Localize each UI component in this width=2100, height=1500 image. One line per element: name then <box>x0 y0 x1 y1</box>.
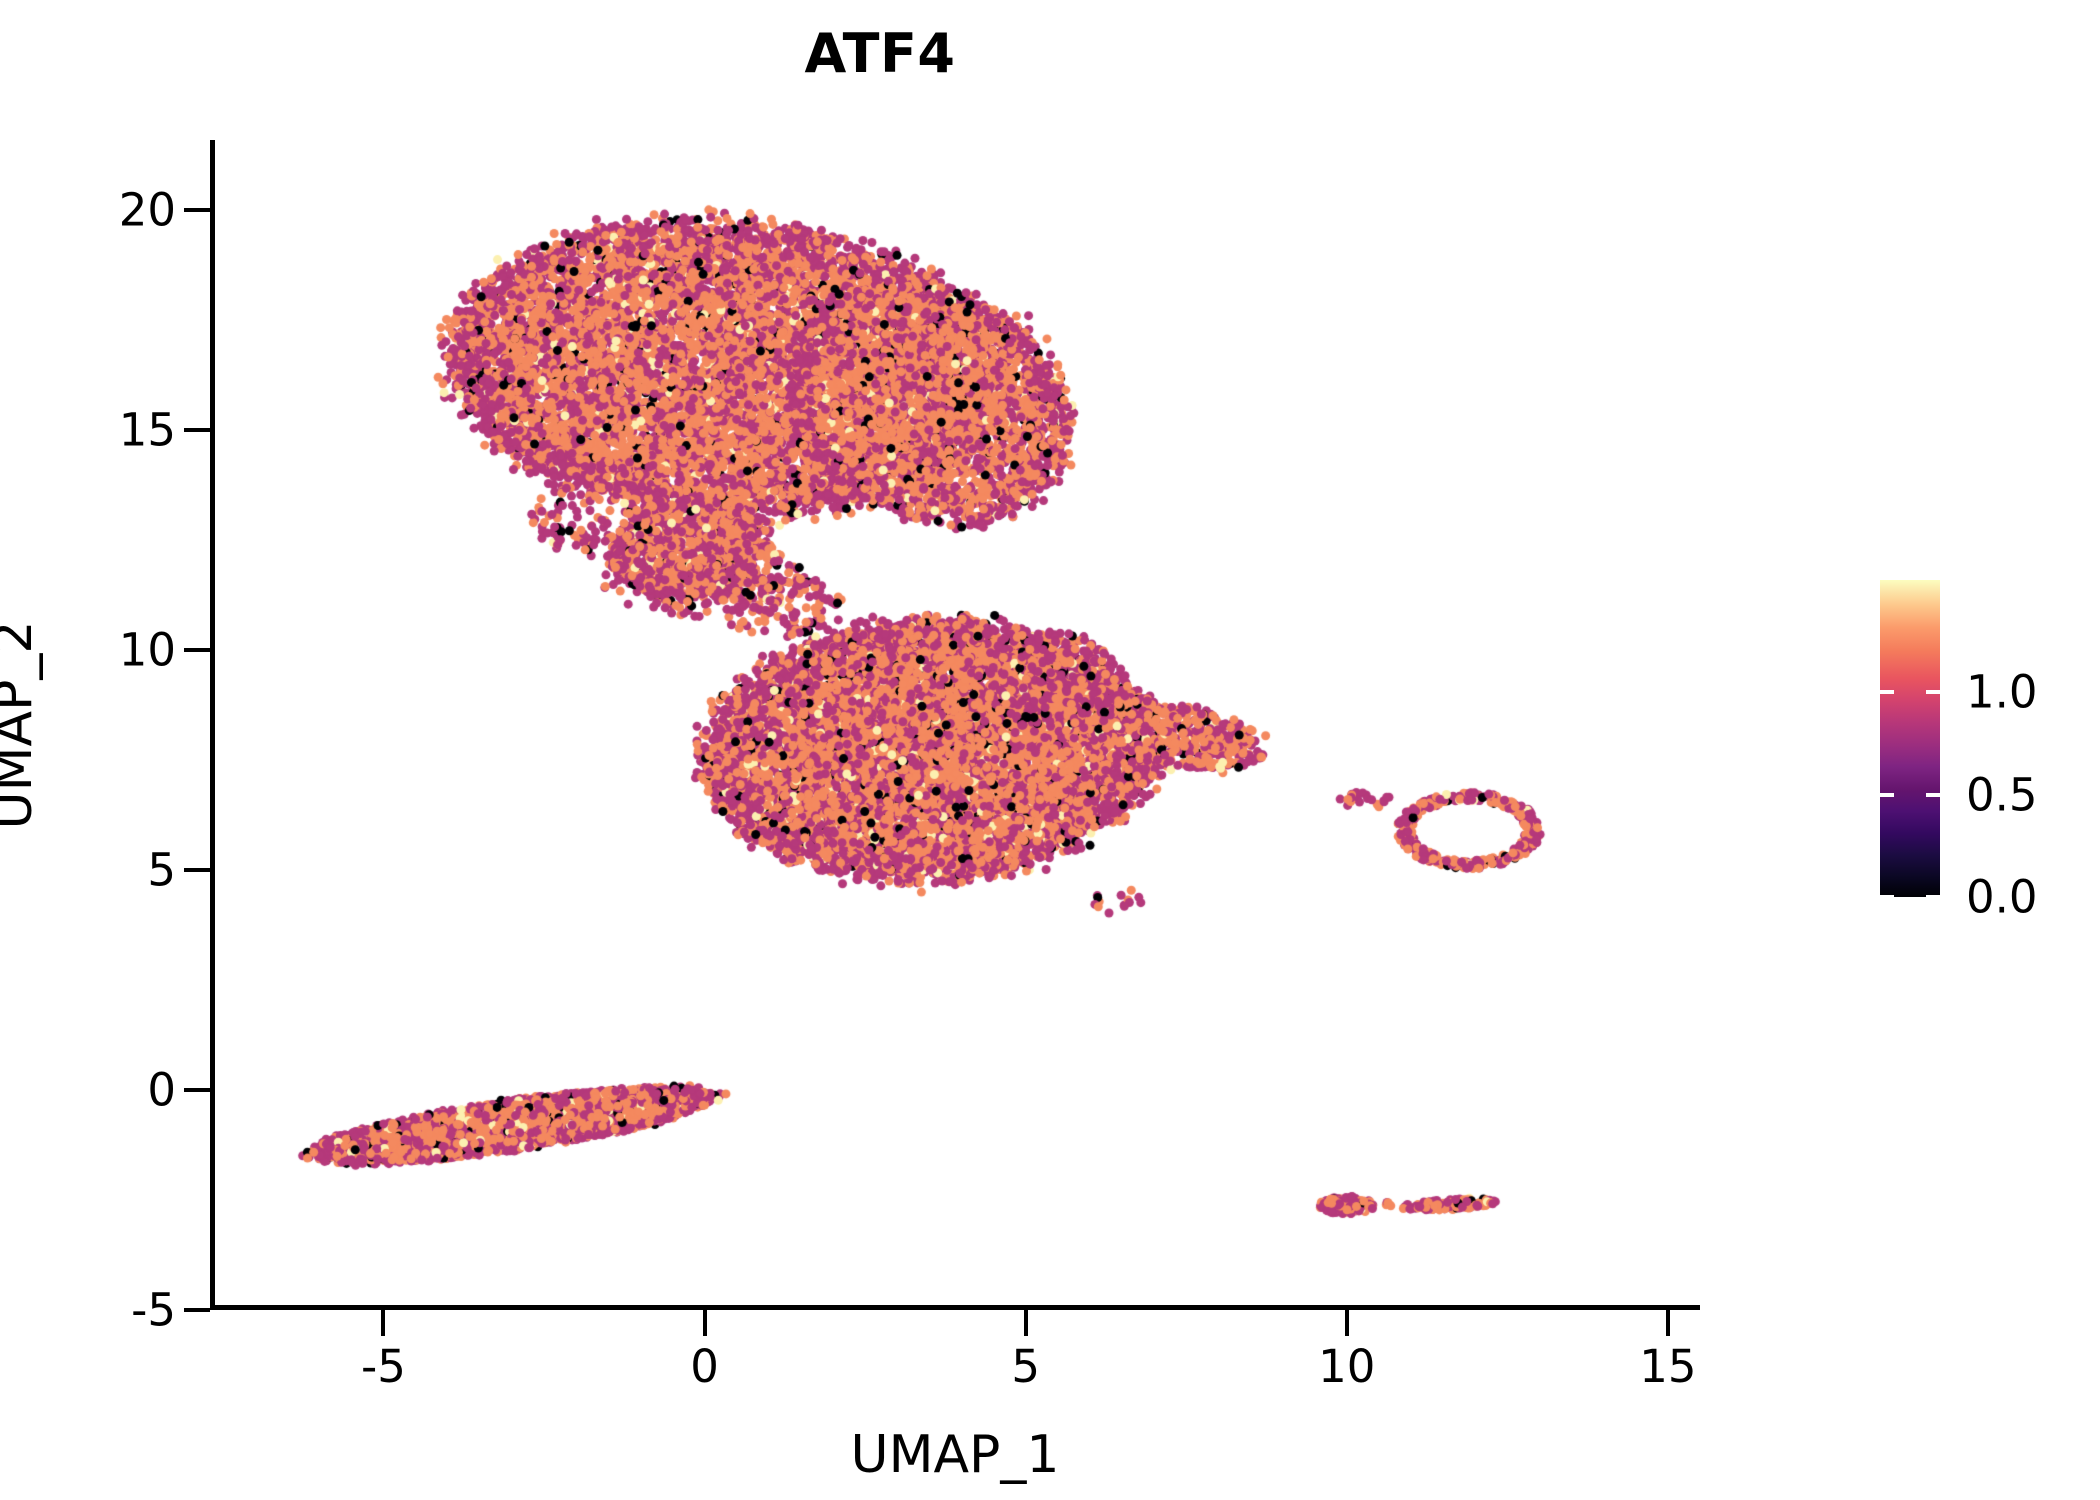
x-tick-mark <box>1666 1310 1670 1336</box>
y-tick-label: 15 <box>119 408 176 453</box>
colorbar-tick-label: 1.0 <box>1966 670 2038 715</box>
x-tick-mark <box>1345 1310 1349 1336</box>
colorbar-tick-mark <box>1926 690 1940 694</box>
y-tick-label: 20 <box>119 188 176 233</box>
x-tick-label: 15 <box>1639 1344 1696 1389</box>
y-tick-mark <box>184 1308 210 1312</box>
x-tick-label: 0 <box>690 1344 719 1389</box>
y-tick-mark <box>184 1088 210 1092</box>
x-tick-mark <box>1024 1310 1028 1336</box>
y-tick-label: 10 <box>119 628 176 673</box>
colorbar: 1.00.50.0 <box>1880 580 2080 900</box>
colorbar-tick-label: 0.5 <box>1966 772 2038 817</box>
x-tick-label: 10 <box>1318 1344 1375 1389</box>
x-tick-label: 5 <box>1011 1344 1040 1389</box>
colorbar-tick-label: 0.0 <box>1966 875 2038 920</box>
x-tick-label: -5 <box>361 1344 406 1389</box>
x-axis-label: UMAP_1 <box>210 1425 1700 1485</box>
x-tick-mark <box>381 1310 385 1336</box>
x-axis-spine <box>210 1305 1700 1310</box>
colorbar-tick-mark <box>1926 895 1940 899</box>
y-tick-mark <box>184 428 210 432</box>
scatter-plot-canvas <box>210 140 1700 1310</box>
y-tick-mark <box>184 208 210 212</box>
colorbar-gradient <box>1880 580 1940 897</box>
colorbar-tick-mark <box>1880 793 1894 797</box>
plot-axes: 20151050-5 -5051015 UMAP_1 UMAP_2 <box>210 140 1700 1310</box>
colorbar-tick-mark <box>1880 690 1894 694</box>
y-tick-label: -5 <box>131 1288 176 1333</box>
y-tick-mark <box>184 648 210 652</box>
colorbar-tick-mark <box>1926 793 1940 797</box>
y-axis-label: UMAP_2 <box>0 621 44 830</box>
y-axis-spine <box>210 140 215 1310</box>
y-tick-mark <box>184 868 210 872</box>
figure-root: ATF4 20151050-5 -5051015 UMAP_1 UMAP_2 1… <box>0 0 2100 1500</box>
y-tick-label: 0 <box>147 1068 176 1113</box>
colorbar-tick-mark <box>1880 895 1894 899</box>
page-title: ATF4 <box>0 22 1760 85</box>
x-tick-mark <box>703 1310 707 1336</box>
y-tick-label: 5 <box>147 848 176 893</box>
